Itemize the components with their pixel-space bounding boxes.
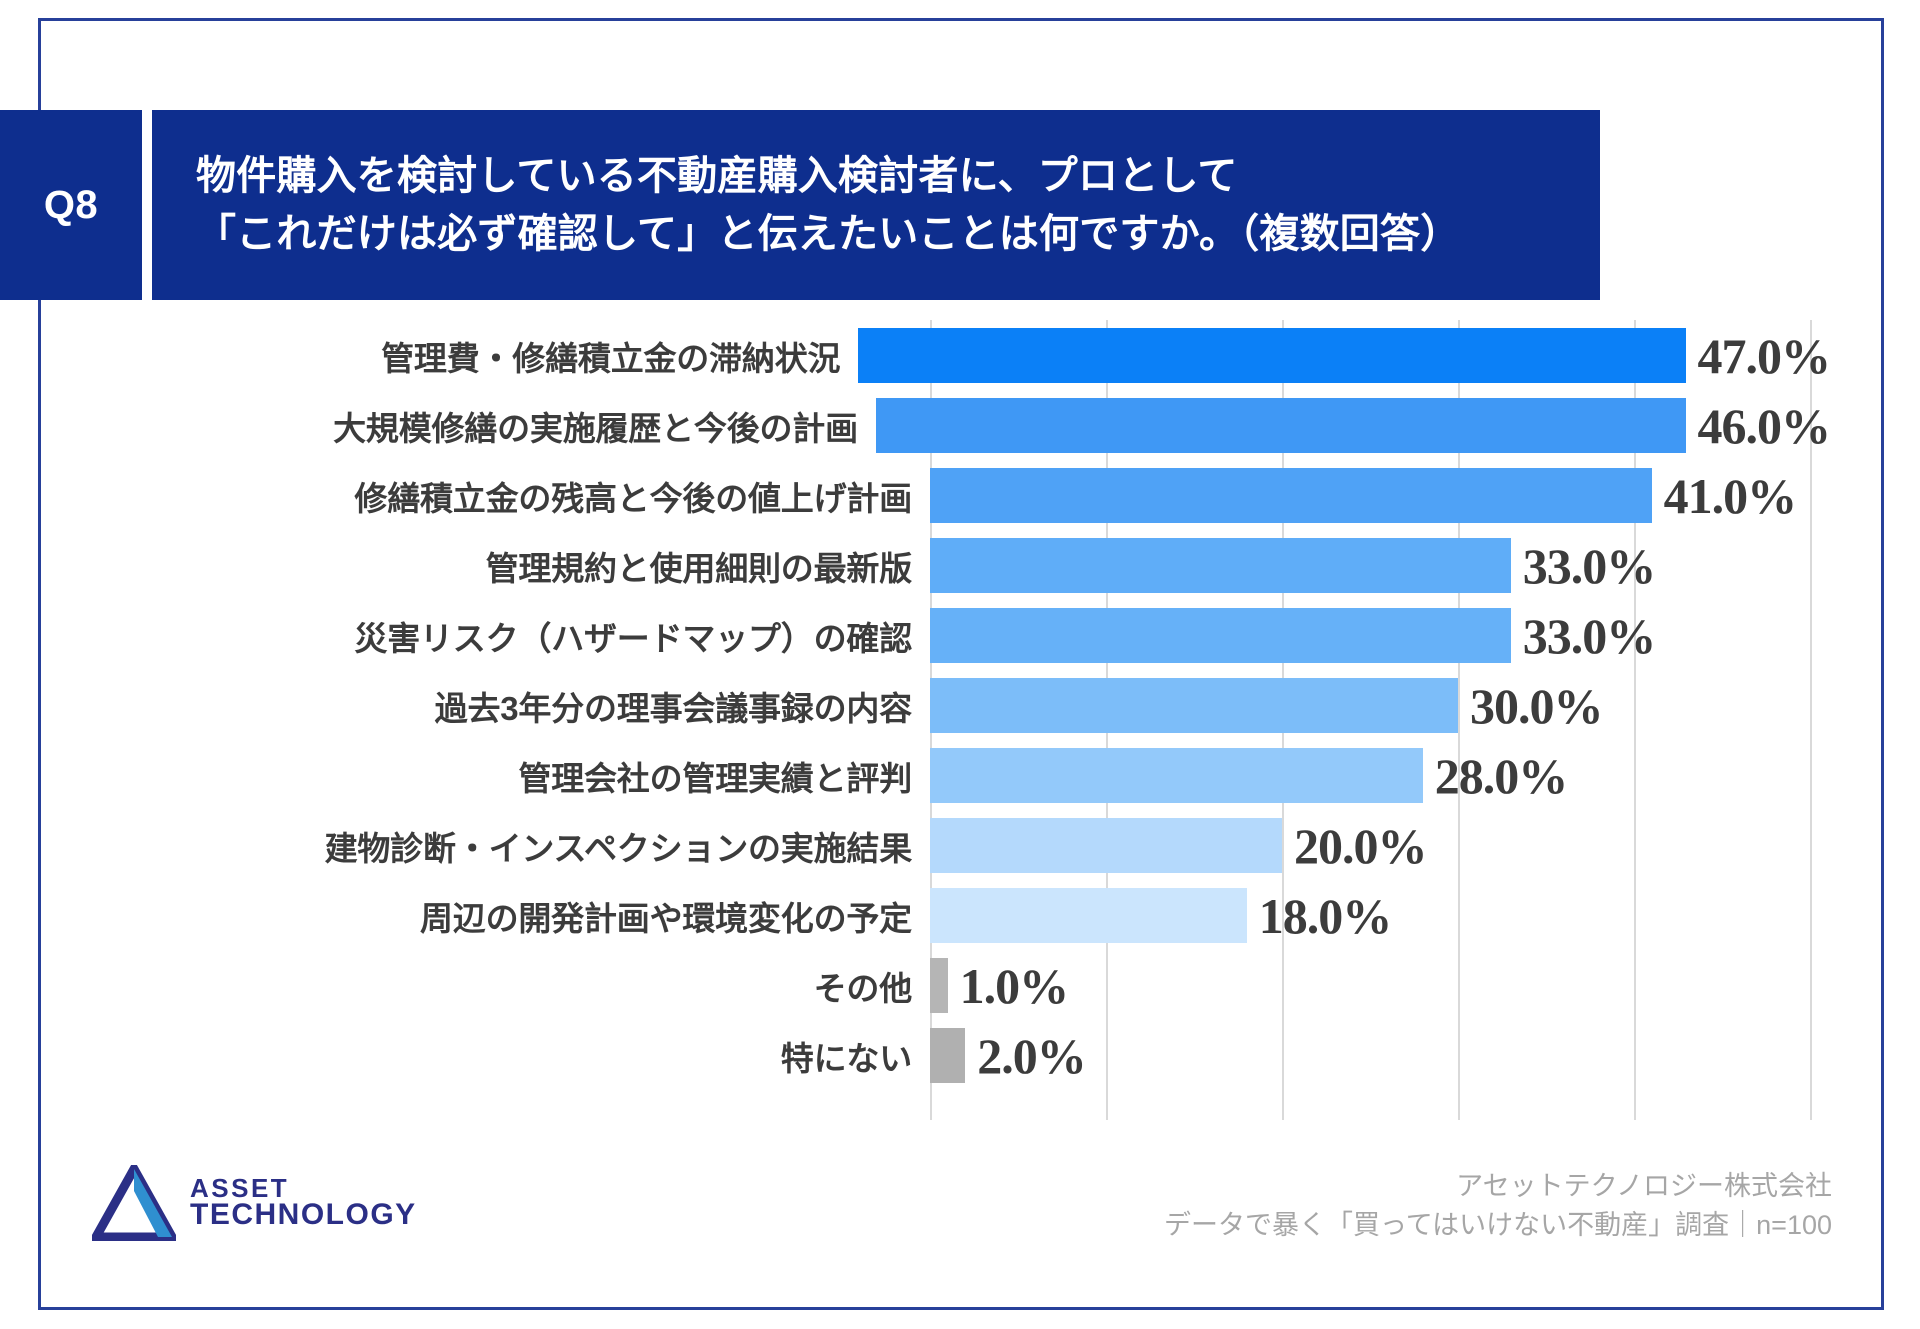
bar-row: 管理会社の管理実績と評判28.0%	[0, 748, 1830, 803]
bar-value-label: 33.0%	[1523, 611, 1656, 661]
bar-category-label: その他	[0, 962, 930, 1010]
slide-root: Q8 物件購入を検討している不動産購入検討者に、プロとして 「これだけは必ず確認…	[0, 0, 1920, 1329]
question-header: Q8 物件購入を検討している不動産購入検討者に、プロとして 「これだけは必ず確認…	[0, 110, 1600, 300]
bar-row: 災害リスク（ハザードマップ）の確認33.0%	[0, 608, 1830, 663]
question-title-line-2: 「これだけは必ず確認して」と伝えたいことは何ですか。（複数回答）	[196, 205, 1570, 263]
bar	[930, 818, 1282, 873]
bar	[930, 1028, 965, 1083]
question-number-badge: Q8	[0, 110, 142, 300]
question-number-label: Q8	[44, 183, 98, 228]
company-logo: ASSET TECHNOLOGY	[92, 1165, 417, 1241]
bar-track: 18.0%	[930, 888, 1830, 943]
bar-value-label: 18.0%	[1259, 891, 1392, 941]
bar-category-label: 管理会社の管理実績と評判	[0, 752, 930, 800]
bar	[930, 958, 948, 1013]
bar	[876, 398, 1686, 453]
bar-value-label: 2.0%	[977, 1031, 1086, 1081]
bar-row: 大規模修繕の実施履歴と今後の計画46.0%	[0, 398, 1830, 453]
bar-value-label: 33.0%	[1523, 541, 1656, 591]
bar-row: その他1.0%	[0, 958, 1830, 1013]
bar-category-label: 建物診断・インスペクションの実施結果	[0, 822, 930, 870]
bar-category-label: 災害リスク（ハザードマップ）の確認	[0, 612, 930, 660]
bar-category-label: 大規模修繕の実施履歴と今後の計画	[0, 402, 876, 450]
bar-value-label: 28.0%	[1435, 751, 1568, 801]
bar-track: 33.0%	[930, 538, 1830, 593]
bar-track: 41.0%	[930, 468, 1830, 523]
bar-value-label: 20.0%	[1294, 821, 1427, 871]
bar-value-label: 41.0%	[1664, 471, 1797, 521]
credit-survey-name: データで暴く「買ってはいけない不動産」調査｜n=100	[1164, 1206, 1832, 1245]
logo-text-line-2: TECHNOLOGY	[190, 1201, 417, 1230]
bar-category-label: 過去3年分の理事会議事録の内容	[0, 682, 930, 730]
bar-row: 管理費・修繕積立金の滞納状況47.0%	[0, 328, 1830, 383]
bar-track: 46.0%	[876, 398, 1830, 453]
bar	[930, 888, 1247, 943]
bar-chart: 管理費・修繕積立金の滞納状況47.0%大規模修繕の実施履歴と今後の計画46.0%…	[0, 320, 1830, 1150]
bar-value-label: 30.0%	[1470, 681, 1603, 731]
bar-track: 2.0%	[930, 1028, 1830, 1083]
bar	[930, 468, 1652, 523]
bar-track: 47.0%	[858, 328, 1830, 383]
survey-credits: アセットテクノロジー株式会社 データで暴く「買ってはいけない不動産」調査｜n=1…	[1164, 1167, 1832, 1245]
bar-row: 修繕積立金の残高と今後の値上げ計画41.0%	[0, 468, 1830, 523]
bar-row: 管理規約と使用細則の最新版33.0%	[0, 538, 1830, 593]
bar-category-label: 周辺の開発計画や環境変化の予定	[0, 892, 930, 940]
bar-value-label: 47.0%	[1698, 331, 1831, 381]
bar-category-label: 管理規約と使用細則の最新版	[0, 542, 930, 590]
triangle-logo-icon	[92, 1165, 176, 1241]
bar-value-label: 1.0%	[960, 961, 1069, 1011]
bar-chart-rows: 管理費・修繕積立金の滞納状況47.0%大規模修繕の実施履歴と今後の計画46.0%…	[0, 328, 1830, 1098]
bar-track: 28.0%	[930, 748, 1830, 803]
credit-company-name: アセットテクノロジー株式会社	[1164, 1167, 1832, 1206]
bar-value-label: 46.0%	[1698, 401, 1831, 451]
bar-row: 建物診断・インスペクションの実施結果20.0%	[0, 818, 1830, 873]
question-title-bar: 物件購入を検討している不動産購入検討者に、プロとして 「これだけは必ず確認して」…	[152, 110, 1600, 300]
bar-category-label: 修繕積立金の残高と今後の値上げ計画	[0, 472, 930, 520]
bar-category-label: 特にない	[0, 1032, 930, 1080]
slide-footer: ASSET TECHNOLOGY アセットテクノロジー株式会社 データで暴く「買…	[0, 1155, 1884, 1285]
bar-category-label: 管理費・修繕積立金の滞納状況	[0, 332, 858, 380]
bar	[858, 328, 1685, 383]
bar-track: 20.0%	[930, 818, 1830, 873]
bar	[930, 608, 1511, 663]
bar-row: 特にない2.0%	[0, 1028, 1830, 1083]
bar	[930, 748, 1423, 803]
bar-track: 1.0%	[930, 958, 1830, 1013]
bar-track: 33.0%	[930, 608, 1830, 663]
bar-row: 周辺の開発計画や環境変化の予定18.0%	[0, 888, 1830, 943]
bar-track: 30.0%	[930, 678, 1830, 733]
question-title-line-1: 物件購入を検討している不動産購入検討者に、プロとして	[196, 147, 1570, 205]
bar	[930, 678, 1458, 733]
bar	[930, 538, 1511, 593]
bar-row: 過去3年分の理事会議事録の内容30.0%	[0, 678, 1830, 733]
